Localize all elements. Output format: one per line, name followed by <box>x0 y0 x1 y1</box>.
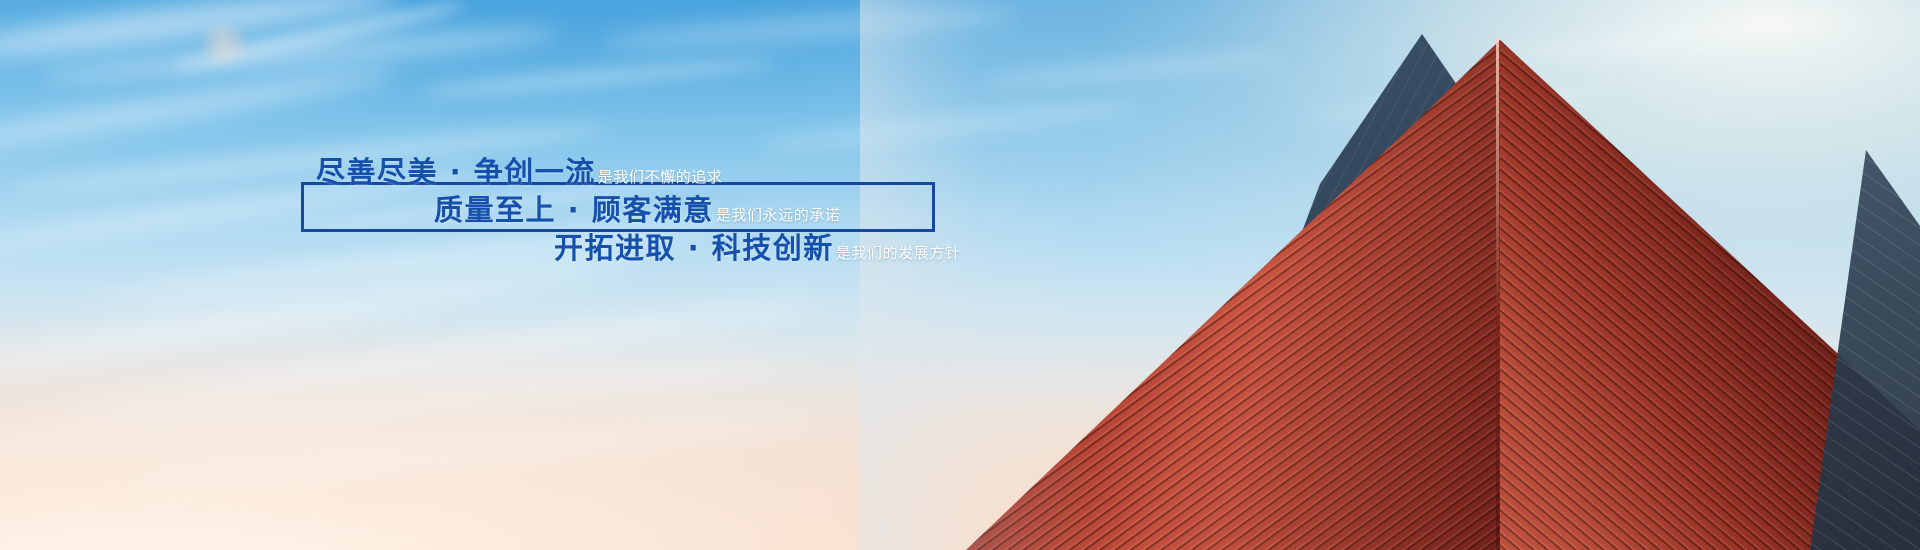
slogan-line-2-tail: 是我们永远的承诺 <box>716 208 841 223</box>
hero-banner: 尽善尽美 · 争创一流 是我们不懈的追求 质量至上 · 顾客满意 是我们永远的承… <box>0 0 1920 550</box>
lens-flare <box>196 24 252 64</box>
frame-right-bracket <box>932 182 935 232</box>
slogan-line-3: 开拓进取 · 科技创新 是我们的发展方针 <box>554 234 961 263</box>
slogan-line-2-highlight: 质量至上 · 顾客满意 <box>434 196 714 225</box>
slogan-line-3-tail: 是我们的发展方针 <box>836 246 961 261</box>
slogan-line-2: 质量至上 · 顾客满意 是我们永远的承诺 <box>434 196 841 225</box>
slogan-line-1-highlight: 尽善尽美 · 争创一流 <box>316 158 596 187</box>
slogan-line-1-tail: 是我们不懈的追求 <box>598 170 723 185</box>
modern-building-photo <box>860 0 1920 550</box>
slogan-line-3-highlight: 开拓进取 · 科技创新 <box>554 234 834 263</box>
frame-left-bracket <box>301 182 304 232</box>
building-apex-ridge <box>1496 38 1499 550</box>
slogan-line-1: 尽善尽美 · 争创一流 是我们不懈的追求 <box>316 158 723 187</box>
